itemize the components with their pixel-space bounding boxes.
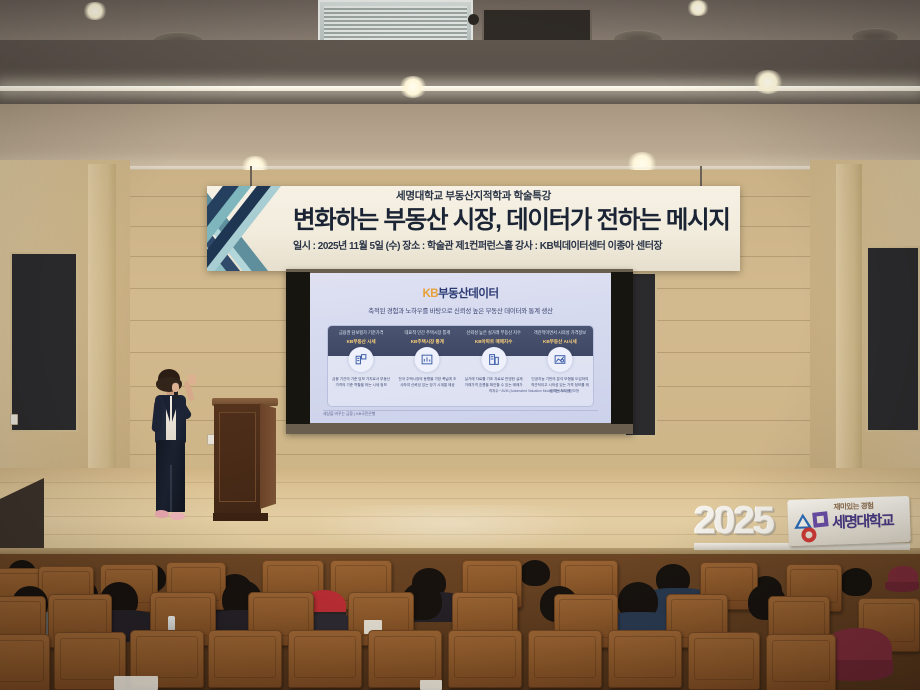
lectern-base xyxy=(213,513,268,521)
seat-back[interactable] xyxy=(208,630,282,688)
kb-brand-text: KB xyxy=(422,288,438,300)
column-subheading: KB부동산 AI시세 xyxy=(527,338,593,345)
slide-footnote: * AVM (Automated Valuation Model) 자동가치산정… xyxy=(499,388,579,393)
slide-subtitle: 축적된 경험과 노하우를 바탕으로 신뢰성 높은 부동산 데이터와 통계 생산 xyxy=(315,306,606,315)
column-heading: 객관적이면서 시의성 가격정보 xyxy=(527,330,593,336)
stage-photo-sign: 2025 재미있는 경험 세명대학교 xyxy=(694,494,910,550)
audience-head xyxy=(520,560,550,586)
acoustic-panel-left xyxy=(10,252,78,432)
ceiling-soffit xyxy=(0,40,920,106)
slide-title: KB부동산데이터 xyxy=(315,285,606,301)
cove-light-edge xyxy=(0,166,920,169)
column-body: 금융 기관의 기준 담보 가치로서 부동산 가격의 기준 역할을 하는 시세 정… xyxy=(331,376,391,388)
column-body: 전국 주택시장의 동향을 가장 폭넓게 조사하여 신뢰성 있는 장기 시계열 제… xyxy=(397,376,457,388)
building-document-icon xyxy=(349,347,374,372)
ceiling-downlight xyxy=(752,70,784,94)
water-bottle[interactable] xyxy=(168,616,175,631)
map-chart-icon xyxy=(547,347,572,372)
banner-meta: 일시 : 2025년 11월 5일 (수) 장소 : 학술관 제1컨퍼런스홀 강… xyxy=(293,238,654,256)
screen-letterbox-right xyxy=(611,272,633,424)
column-heading: 대표적 민간 주택시장 통계 xyxy=(394,330,460,336)
screen-letterbox-left xyxy=(286,272,310,424)
trouser-seam xyxy=(170,465,172,512)
audience-head xyxy=(840,568,872,596)
seat-back[interactable] xyxy=(688,632,760,690)
event-banner: 세명대학교 부동산지적학과 학술특강 변화하는 부동산 시장, 데이터가 전하는… xyxy=(207,186,740,271)
presenter-hand-raised xyxy=(188,374,196,385)
slide-content-card: 금융권 담보평가 기준가격 KB부동산 시세 금융 기관의 기준 담보 가치로서… xyxy=(327,325,594,407)
column-subheading: KB아파트 매매지수 xyxy=(461,338,527,345)
sign-university-block: 재미있는 경험 세명대학교 xyxy=(787,496,911,546)
bar-chart-icon xyxy=(415,347,440,372)
banner-decoration-left xyxy=(207,186,297,271)
building-list-icon xyxy=(481,347,506,372)
lectern-side-panel xyxy=(260,403,276,509)
wall-pillar-left xyxy=(88,164,116,504)
column-heading: 금융권 담보평가 기준가격 xyxy=(328,330,394,336)
presenter-shoe-right xyxy=(170,512,185,520)
square-shape-icon xyxy=(812,511,828,527)
slide-column: 금융권 담보평가 기준가격 KB부동산 시세 금융 기관의 기준 담보 가치로서… xyxy=(328,326,394,406)
slide-column: 대표적 민간 주택시장 통계 KB주택시장 통계 전국 주택시장의 동향을 가장… xyxy=(394,326,460,406)
floor-reflection xyxy=(300,505,600,553)
column-heading: 신뢰성 높은 실거래 부동산 지수 xyxy=(461,330,527,336)
circle-shape-icon xyxy=(801,527,817,543)
wall-pillar-right xyxy=(836,164,862,502)
seat-back[interactable] xyxy=(766,634,836,690)
slide-column: 신뢰성 높은 실거래 부동산 지수 KB아파트 매매지수 실거래 자료를 기초 … xyxy=(461,326,527,406)
auditorium-photo: 세명대학교 부동산지적학과 학술특강 변화하는 부동산 시장, 데이터가 전하는… xyxy=(0,0,920,690)
sign-university-name: 세명대학교 xyxy=(832,511,909,533)
banner-hanger-right xyxy=(700,166,702,188)
paper-handout[interactable] xyxy=(114,676,158,690)
banner-title: 변화하는 부동산 시장, 데이터가 전하는 메시지 xyxy=(293,204,654,238)
seat-back[interactable] xyxy=(528,630,602,688)
seat-back[interactable] xyxy=(0,634,50,690)
slide-footer: 세상을 바꾸는 금융 | KB국민은행 xyxy=(323,410,598,417)
banner-hanger-left xyxy=(250,166,252,188)
sign-year: 2025 xyxy=(694,500,773,542)
ceiling-downlight xyxy=(82,2,108,20)
seat-back[interactable] xyxy=(448,630,522,688)
slide-title-rest: 부동산데이터 xyxy=(438,288,498,300)
paper-handout[interactable] xyxy=(420,680,442,690)
ceiling-downlight xyxy=(686,0,710,16)
ceiling-downlight xyxy=(398,76,428,98)
acoustic-panel-right xyxy=(866,246,920,432)
presenter-hand-mic xyxy=(172,383,179,392)
seat-back[interactable] xyxy=(288,630,362,688)
slide-columns: 금융권 담보평가 기준가격 KB부동산 시세 금융 기관의 기준 담보 가치로서… xyxy=(328,326,593,406)
lectern-front-panel xyxy=(214,404,261,516)
maroon-cap xyxy=(888,566,918,588)
seat-back[interactable] xyxy=(608,630,682,688)
banner-eyebrow: 세명대학교 부동산지적학과 학술특강 xyxy=(293,189,654,204)
banner-text-block: 세명대학교 부동산지적학과 학술특강 변화하는 부동산 시장, 데이터가 전하는… xyxy=(293,189,654,256)
presenter-shoe-left xyxy=(155,510,169,518)
slide-column: 객관적이면서 시의성 가격정보 KB부동산 AI시세 인공지능 기반의 분석 모… xyxy=(527,326,593,406)
column-subheading: KB부동산 시세 xyxy=(328,338,394,345)
banner-clip xyxy=(468,14,479,25)
projected-slide: KB부동산데이터 축적된 경험과 노하우를 바탕으로 신뢰성 높은 부동산 데이… xyxy=(310,273,611,423)
lectern xyxy=(214,398,276,518)
presenter xyxy=(142,369,204,527)
column-subheading: KB주택시장 통계 xyxy=(394,338,460,345)
audience-seating xyxy=(0,554,920,690)
wall-outlet[interactable] xyxy=(10,414,18,425)
